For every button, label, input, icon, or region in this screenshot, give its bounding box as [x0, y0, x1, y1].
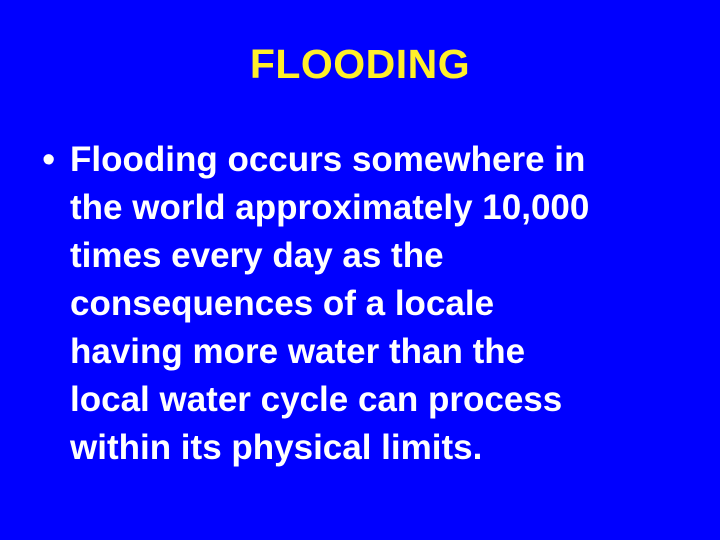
list-item: • Flooding occurs somewhere in the world…	[36, 136, 696, 472]
bullet-line: having more water than the	[70, 328, 696, 376]
presentation-slide: FLOODING • Flooding occurs somewhere in …	[0, 0, 720, 540]
page-title: FLOODING	[0, 44, 720, 85]
bullet-line: times every day as the	[70, 232, 696, 280]
bullet-text: Flooding occurs somewhere in the world a…	[70, 136, 696, 472]
bullet-point-icon: •	[36, 136, 70, 184]
bullet-line: Flooding occurs somewhere in	[70, 136, 696, 184]
bullet-line: within its physical limits.	[70, 424, 696, 472]
bullet-line: consequences of a locale	[70, 280, 696, 328]
slide-body: • Flooding occurs somewhere in the world…	[36, 136, 696, 472]
bullet-line: local water cycle can process	[70, 376, 696, 424]
bullet-line: the world approximately 10,000	[70, 184, 696, 232]
